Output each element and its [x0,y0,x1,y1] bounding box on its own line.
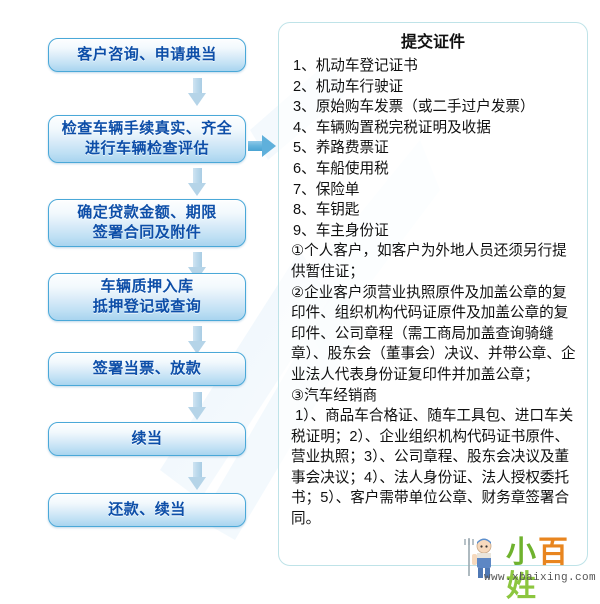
site-watermark: 小百姓 www.xbaixing.com [462,536,600,588]
flow-step-box-6[interactable]: 续当 [48,422,246,456]
flow-step-box-4[interactable]: 车辆质押入库 抵押登记或查询 [48,273,246,321]
document-note: ③汽车经销商 [289,386,577,407]
arrow-down-icon-1 [188,78,206,108]
document-item: 5、养路费票证 [289,138,577,159]
document-item: 7、保险单 [289,180,577,201]
arrow-down-icon-2 [188,168,206,198]
document-item: 3、原始购车发票（或二手过户发票） [289,97,577,118]
arrow-right-icon [248,135,276,157]
watermark-url: www.xbaixing.com [484,572,596,584]
flow-step-box-1[interactable]: 客户咨询、申请典当 [48,38,246,72]
document-item: 2、机动车行驶证 [289,77,577,98]
arrow-down-icon-6 [188,462,206,492]
document-item: 6、车船使用税 [289,159,577,180]
documents-panel: 提交证件 1、机动车登记证书 2、机动车行驶证 3、原始购车发票（或二手过户发票… [278,22,588,566]
flow-step-box-5[interactable]: 签署当票、放款 [48,352,246,386]
arrow-down-icon-5 [188,392,206,422]
flow-step-label-6: 续当 [131,429,162,449]
document-item: 9、车主身份证 [289,221,577,242]
flow-step-box-7[interactable]: 还款、续当 [48,493,246,527]
flow-step-label-7: 还款、续当 [108,500,186,520]
document-item: 1、机动车登记证书 [289,56,577,77]
flow-step-label-2: 检查车辆手续真实、齐全 进行车辆检查评估 [62,119,233,159]
document-note: ①个人客户，如客户为外地人员还须另行提供暂住证； [289,241,577,282]
flow-step-label-4: 车辆质押入库 抵押登记或查询 [93,277,202,317]
flow-step-box-2[interactable]: 检查车辆手续真实、齐全 进行车辆检查评估 [48,115,246,163]
flow-step-label-5: 签署当票、放款 [93,359,202,379]
flow-step-label-1: 客户咨询、申请典当 [77,45,217,65]
document-note: ②企业客户须营业执照原件及加盖公章的复印件、组织机构代码证原件及加盖公章的复印件… [289,283,577,386]
watermark-char-2: 百 [538,536,570,569]
document-note: 1）、商品车合格证、随车工具包、进口车关税证明；2）、企业组织机构代码证书原件、… [289,406,577,530]
document-item: 8、车钥匙 [289,200,577,221]
watermark-char-1: 小 [506,536,538,569]
flow-step-box-3[interactable]: 确定贷款金额、期限 签署合同及附件 [48,199,246,247]
document-item: 4、车辆购置税完税证明及收据 [289,118,577,139]
flow-step-label-3: 确定贷款金额、期限 签署合同及附件 [77,203,217,243]
documents-panel-title: 提交证件 [289,31,577,55]
